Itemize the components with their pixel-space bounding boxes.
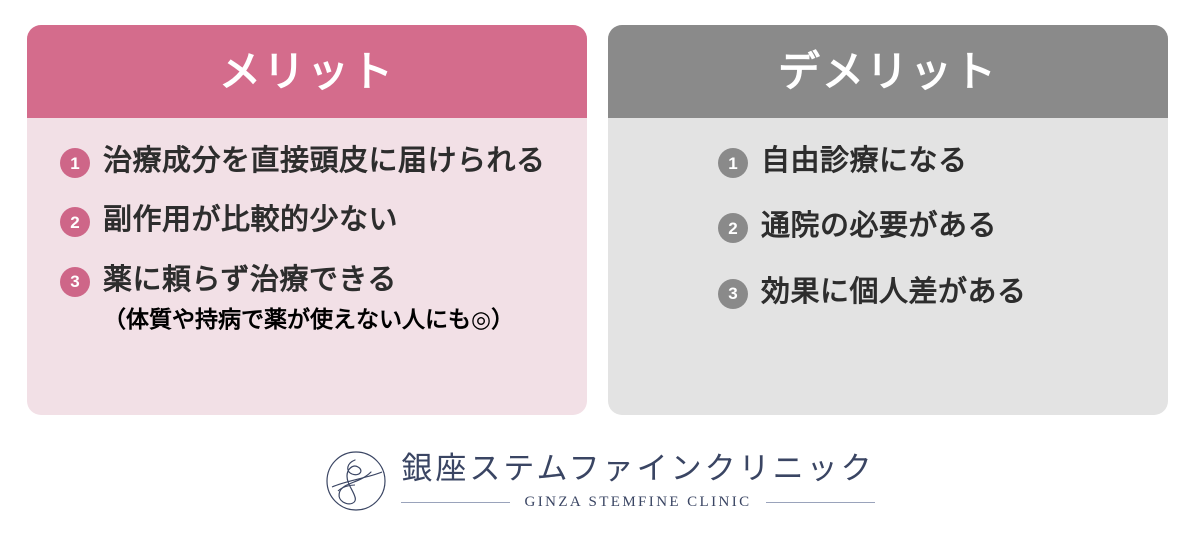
item-number-badge: 3 — [60, 267, 90, 297]
item-label: 自由診療になる — [761, 144, 968, 179]
list-item: 3 薬に頼らず治療できる （体質や持病で薬が使えない人にも◎） — [60, 263, 569, 334]
item-label: 効果に個人差がある — [761, 275, 1027, 310]
merit-card-header: メリット — [27, 25, 587, 118]
list-item: 2 副作用が比較的少ない — [60, 203, 569, 238]
item-label-group: 薬に頼らず治療できる （体質や持病で薬が使えない人にも◎） — [103, 263, 514, 334]
item-number-badge: 1 — [718, 148, 748, 178]
clinic-circle-monogram-icon — [325, 450, 387, 512]
item-number-badge: 2 — [60, 207, 90, 237]
list-item: 2 通院の必要がある — [718, 209, 1150, 244]
clinic-subtitle-row: GINZA STEMFINE CLINIC — [401, 494, 874, 511]
clinic-logo: 銀座ステムファインクリニック GINZA STEMFINE CLINIC — [0, 450, 1200, 512]
demerit-card: デメリット 1 自由診療になる 2 通院の必要がある 3 効果に個人差がある — [608, 25, 1168, 415]
demerit-card-header: デメリット — [608, 25, 1168, 118]
rule-left — [401, 502, 510, 503]
item-label: 副作用が比較的少ない — [103, 203, 398, 238]
comparison-board: メリット 1 治療成分を直接頭皮に届けられる 2 副作用が比較的少ない 3 薬に… — [0, 0, 1200, 548]
demerit-card-title: デメリット — [778, 51, 998, 93]
merit-card-title: メリット — [219, 51, 395, 93]
demerit-card-body: 1 自由診療になる 2 通院の必要がある 3 効果に個人差がある — [608, 118, 1168, 310]
item-number-badge: 3 — [718, 279, 748, 309]
item-number-badge: 1 — [60, 148, 90, 178]
clinic-subtitle: GINZA STEMFINE CLINIC — [510, 494, 765, 511]
item-label: 通院の必要がある — [761, 209, 997, 244]
list-item: 1 自由診療になる — [718, 144, 1150, 179]
clinic-logo-text: 銀座ステムファインクリニック GINZA STEMFINE CLINIC — [401, 451, 874, 511]
list-item: 3 効果に個人差がある — [718, 275, 1150, 310]
list-item: 1 治療成分を直接頭皮に届けられる — [60, 144, 569, 179]
item-sublabel: （体質や持病で薬が使えない人にも◎） — [103, 300, 514, 334]
item-label: 薬に頼らず治療できる — [103, 263, 514, 298]
clinic-logo-inner: 銀座ステムファインクリニック GINZA STEMFINE CLINIC — [325, 450, 874, 512]
clinic-name: 銀座ステムファインクリニック — [401, 451, 874, 487]
rule-right — [766, 502, 875, 503]
item-number-badge: 2 — [718, 213, 748, 243]
merit-card: メリット 1 治療成分を直接頭皮に届けられる 2 副作用が比較的少ない 3 薬に… — [27, 25, 587, 415]
item-label: 治療成分を直接頭皮に届けられる — [103, 144, 546, 179]
merit-card-body: 1 治療成分を直接頭皮に届けられる 2 副作用が比較的少ない 3 薬に頼らず治療… — [27, 118, 587, 334]
